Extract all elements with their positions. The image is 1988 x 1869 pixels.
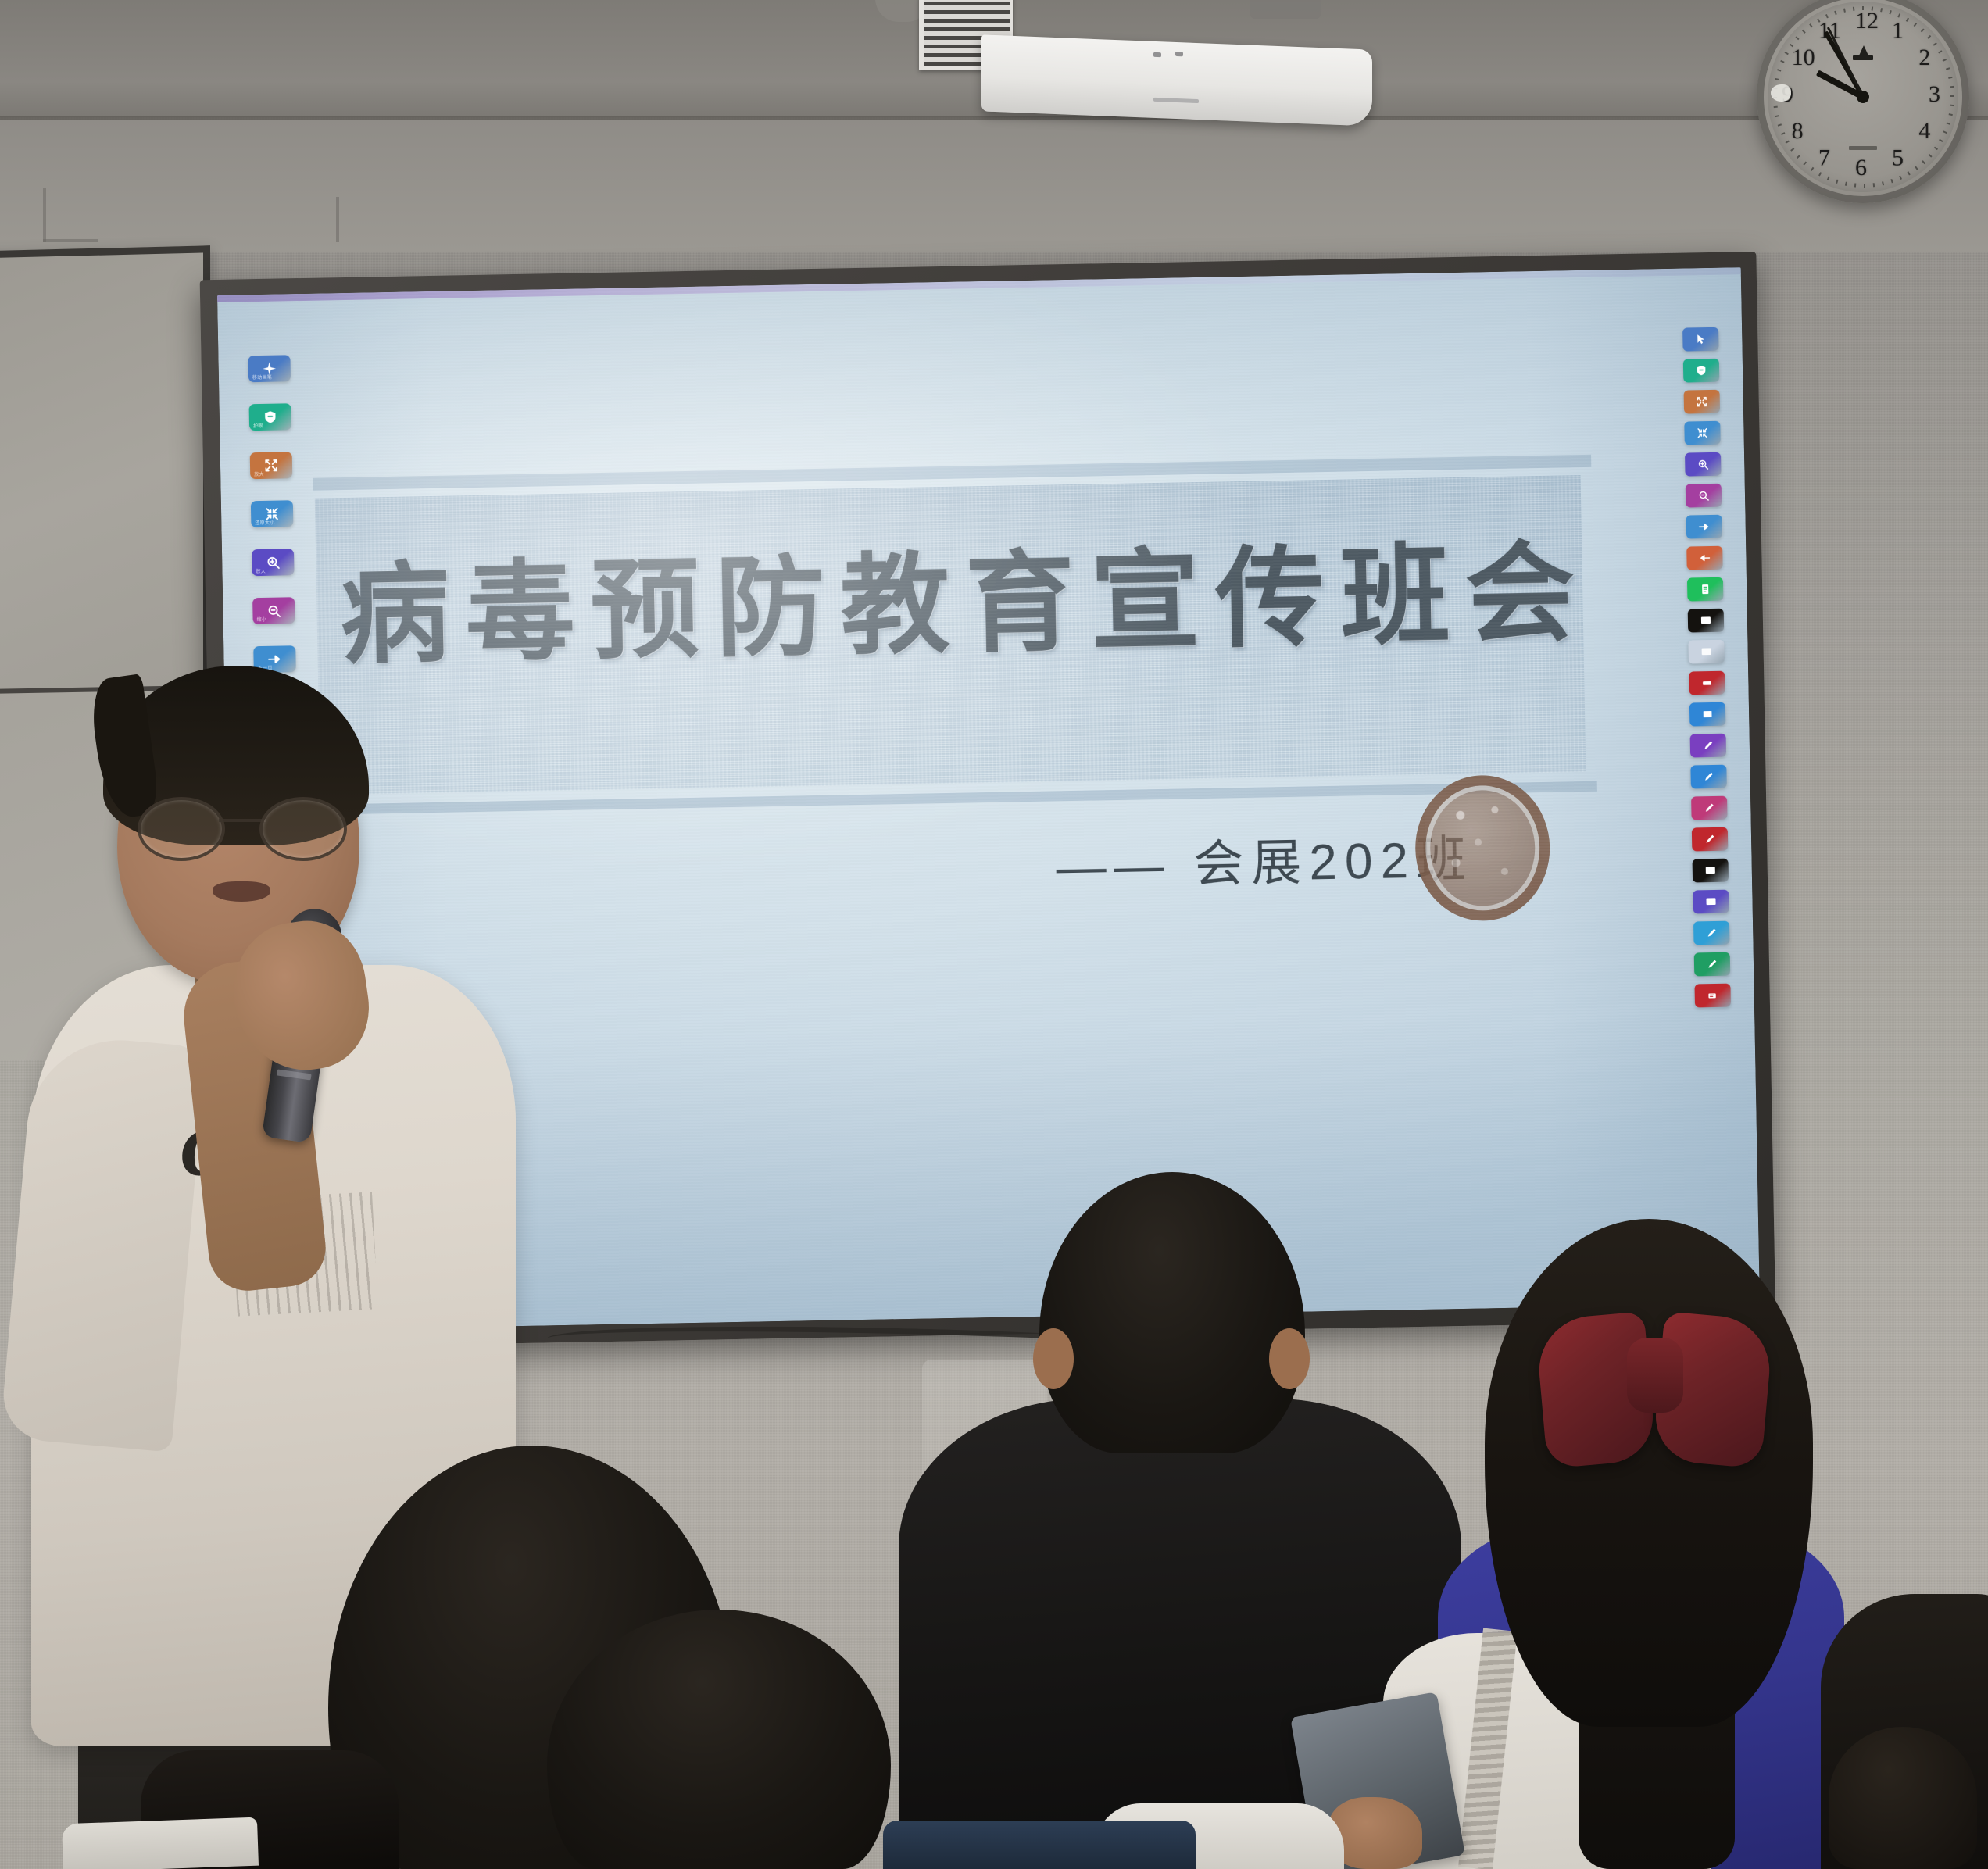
pen-purple-tool[interactable] [1690, 734, 1727, 758]
exit-tool[interactable] [1694, 984, 1731, 1008]
clock-tick [1775, 78, 1779, 80]
shield-heart-icon [1695, 364, 1707, 377]
clock-wall-chip [1771, 84, 1791, 102]
expand-arrows-icon [263, 458, 279, 474]
zoom-in-tool[interactable]: 放大 [252, 549, 295, 576]
page-tool[interactable] [1687, 577, 1724, 602]
clock-tick [1778, 123, 1782, 126]
clock-tick [1834, 11, 1836, 15]
eraser-icon [1700, 677, 1713, 689]
clock-numeral-12: 12 [1855, 8, 1879, 34]
clock-tick [1938, 50, 1942, 53]
eyeglass-lens-left [138, 797, 225, 861]
shield-tool[interactable]: 护眼 [249, 403, 292, 431]
zoom-in-icon [265, 555, 281, 570]
clock-tick [1921, 28, 1925, 32]
clock-tick [1950, 95, 1954, 97]
eraser-tool[interactable] [1689, 671, 1725, 695]
blackboard-tool[interactable] [1688, 609, 1725, 633]
clock-tick [1899, 176, 1902, 180]
page-icon [1699, 583, 1711, 595]
clock-tick [1775, 115, 1779, 117]
clock-tick [1854, 183, 1857, 187]
pen-icon [1703, 802, 1715, 814]
clock-tick [1927, 35, 1931, 39]
zoom-out-tool[interactable] [1686, 484, 1722, 508]
clock-tick [1774, 106, 1778, 109]
clock-tick [1928, 154, 1932, 158]
pen-red-tool[interactable] [1692, 827, 1729, 852]
upper-wall [0, 120, 1988, 252]
hair-bow [1541, 1316, 1768, 1472]
clock-tick [1906, 18, 1909, 22]
clock-tick [1845, 182, 1847, 186]
pen-pink-tool[interactable] [1691, 796, 1728, 820]
audience-far-right-head [1829, 1727, 1977, 1869]
clock-tick [1939, 139, 1943, 142]
clock-tick [1922, 160, 1925, 164]
expand-tool[interactable]: 放大 [250, 452, 293, 479]
wall-clock: 121234567891011 [1757, 0, 1969, 203]
wall-corner-mark-left [43, 188, 46, 242]
clock-numeral-10: 10 [1792, 45, 1815, 71]
clock-numeral-4: 4 [1918, 118, 1930, 145]
clock-numeral-3: 3 [1929, 81, 1940, 108]
clock-tick [1949, 113, 1953, 116]
board-icon [1700, 614, 1712, 627]
pen-icon [1704, 833, 1716, 845]
clock-tick [1862, 6, 1864, 10]
clock-tick [1818, 172, 1822, 176]
zoom-in-icon [1697, 458, 1709, 470]
pointer-tool[interactable] [1682, 327, 1719, 352]
audience-center-ear-right [1269, 1328, 1310, 1389]
arrow-left-icon [1698, 552, 1711, 564]
clock-numeral-1: 1 [1892, 18, 1904, 45]
clock-tick [1950, 105, 1954, 107]
zoom-in-tool-label: 放大 [256, 567, 266, 574]
board-dark-tool[interactable] [1693, 859, 1729, 883]
zoom-out-icon [266, 603, 281, 619]
clock-tick [1827, 176, 1830, 180]
pen-icon [1705, 927, 1718, 939]
zoom-out-tool[interactable]: 缩小 [252, 597, 295, 624]
audience-head-right [1485, 1219, 1813, 1727]
clock-brand-text [1849, 146, 1877, 150]
clock-tick [1882, 181, 1884, 185]
zoom-in-tool[interactable] [1685, 452, 1722, 477]
clock-tick [1786, 141, 1790, 144]
collapse-tool[interactable] [1684, 421, 1721, 445]
board-icon [1704, 895, 1717, 908]
board-light-icon [1700, 645, 1713, 658]
classroom-scene: 121234567891011 病毒预防教育宣传班会 —— 会展202班 [0, 0, 1988, 1869]
clock-tick [1797, 155, 1800, 159]
zoom-out-tool-label: 缩小 [257, 616, 267, 623]
clock-tick [1890, 179, 1893, 183]
desk-surface-left [62, 1817, 259, 1869]
exit-icon [1707, 989, 1719, 1002]
projector-indicator-2 [1175, 52, 1183, 56]
clock-numeral-2: 2 [1918, 45, 1930, 71]
collapse-tool-label: 还原大小 [255, 519, 274, 526]
clock-numeral-7: 7 [1818, 145, 1830, 171]
clock-tick [1777, 69, 1781, 71]
pen-icon [1702, 739, 1714, 752]
chair-back [883, 1821, 1196, 1869]
pen-icon [1706, 958, 1718, 970]
clock-tick [1933, 42, 1937, 46]
clock-tick [1780, 60, 1784, 63]
clock-numeral-5: 5 [1892, 145, 1904, 171]
clock-face: 121234567891011 [1768, 2, 1958, 192]
shield-tool-label: 护眼 [253, 422, 263, 429]
clock-tick [1853, 7, 1855, 11]
projector-indicator-1 [1153, 52, 1161, 57]
pen-green-tool[interactable] [1694, 952, 1731, 977]
clock-tick [1889, 10, 1891, 14]
clock-tick [1790, 148, 1794, 152]
clock-tick [1811, 167, 1815, 171]
board-violet-tool[interactable] [1693, 890, 1729, 914]
expand-tool-label: 放大 [254, 470, 264, 477]
clock-tick [1908, 171, 1911, 175]
hair-bow-knot [1627, 1338, 1683, 1413]
collapse-tool[interactable]: 还原大小 [251, 500, 294, 527]
zoom-out-icon [1697, 489, 1710, 502]
clock-tick [1873, 183, 1875, 187]
clock-tick [1781, 132, 1785, 135]
shield-heart-icon [263, 409, 278, 425]
pen-cyan-tool[interactable] [1693, 921, 1730, 945]
move-tool[interactable]: 移动画笔 [248, 355, 291, 382]
clock-tick [1934, 147, 1938, 151]
expand-tool[interactable] [1684, 390, 1721, 414]
audience-center-ear-left [1033, 1328, 1074, 1389]
clock-tick [1795, 36, 1799, 40]
eyeglass-bridge [219, 819, 266, 822]
clock-center-pin [1857, 91, 1869, 103]
clock-tick [1836, 180, 1838, 184]
wall-corner-mark-mid [336, 197, 339, 242]
whiteboard-tool[interactable] [1688, 640, 1725, 664]
clock-tick [1914, 23, 1918, 27]
microphone-band-2 [277, 1069, 312, 1080]
clock-tick [1809, 23, 1813, 27]
projector-label-strip [1153, 98, 1199, 103]
clock-tick [1915, 166, 1918, 170]
move-tool-label: 移动画笔 [252, 373, 272, 381]
next-page-tool[interactable] [1686, 515, 1722, 539]
clock-tick [1948, 77, 1952, 79]
clock-tick [1864, 184, 1865, 188]
expand-arrows-icon [1696, 395, 1708, 408]
clock-tick [1785, 52, 1789, 55]
clock-tick [1943, 59, 1947, 62]
board-icon [1704, 864, 1717, 877]
eyeglass-lens-right [259, 797, 347, 861]
clock-tick [1950, 86, 1954, 88]
pen-blue-tool[interactable] [1690, 765, 1727, 789]
clock-numeral-6: 6 [1855, 155, 1867, 181]
clock-tick [1802, 30, 1806, 34]
eyeglasses-icon [138, 797, 347, 856]
clock-tick [1946, 67, 1950, 70]
projector-body [981, 34, 1372, 126]
clock-tick [1943, 130, 1947, 134]
clock-brand-logo-icon [1851, 45, 1875, 64]
prev-page-tool[interactable] [1686, 546, 1723, 570]
clock-tick [1880, 8, 1883, 12]
clock-tick [1947, 122, 1950, 124]
marquee-icon [1701, 708, 1714, 720]
clock-tick [1803, 161, 1807, 165]
arrow-right-icon [1698, 520, 1711, 533]
shield-tool[interactable] [1683, 359, 1720, 383]
cursor-icon [1694, 333, 1707, 345]
clock-numeral-8: 8 [1792, 118, 1804, 145]
wall-corner-mark-left-h [43, 239, 98, 242]
collapse-arrows-icon [1696, 427, 1708, 439]
ceiling-projector [919, 0, 1372, 88]
pen-icon [1702, 770, 1714, 783]
select-tool[interactable] [1689, 702, 1726, 727]
presenter-mouth [213, 881, 270, 902]
clock-tick [1843, 9, 1846, 13]
